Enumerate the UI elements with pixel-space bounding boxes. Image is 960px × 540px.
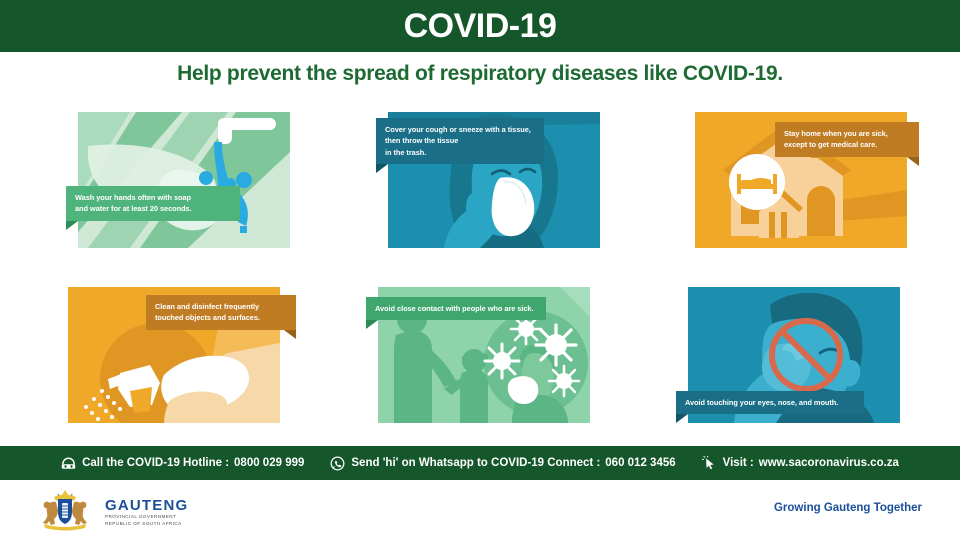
caption-line: Stay home when you are sick,: [784, 128, 910, 139]
header-bar: COVID-19: [0, 0, 960, 52]
panel-caption-avoid-contact: Avoid close contact with people who are …: [366, 297, 546, 320]
panel-avoid-contact: Avoid close contact with people who are …: [378, 287, 590, 423]
contact-website-label: Visit :: [723, 457, 754, 469]
panel-caption-avoid-touching-face: Avoid touching your eyes, nose, and mout…: [676, 391, 864, 414]
caption-line: touched objects and surfaces.: [155, 312, 287, 323]
panel-caption-wash-hands: Wash your hands often with soap and wate…: [66, 186, 240, 221]
contact-hotline-label: Call the COVID-19 Hotline :: [82, 457, 229, 469]
panel-wash-hands: Wash your hands often with soap and wate…: [78, 112, 290, 248]
page-title: COVID-19: [404, 9, 557, 43]
panel-caption-cover-cough: Cover your cough or sneeze with a tissue…: [376, 118, 544, 164]
caption-line: Wash your hands often with soap: [75, 192, 231, 203]
panel-clean-disinfect: Clean and disinfect frequently touched o…: [68, 287, 280, 423]
whatsapp-icon: [330, 456, 345, 471]
caption-line: Avoid touching your eyes, nose, and mout…: [685, 397, 855, 408]
panel-avoid-touching-face: Avoid touching your eyes, nose, and mout…: [688, 287, 900, 423]
caption-line: in the trash.: [385, 147, 535, 158]
telephone-icon: [61, 457, 76, 470]
contact-website[interactable]: Visit : www.sacoronavirus.co.za: [702, 456, 899, 471]
contact-whatsapp[interactable]: Send 'hi' on Whatsapp to COVID-19 Connec…: [330, 456, 675, 471]
contact-whatsapp-value: 060 012 3456: [605, 457, 675, 469]
contact-hotline-value: 0800 029 999: [234, 457, 304, 469]
ribbon-tail: [284, 330, 296, 339]
caption-line: Avoid close contact with people who are …: [375, 303, 537, 314]
contact-hotline[interactable]: Call the COVID-19 Hotline : 0800 029 999: [61, 457, 304, 470]
brand-subtitle-1: PROVINCIAL GOVERNMENT: [105, 515, 188, 520]
subtitle: Help prevent the spread of respiratory d…: [0, 62, 960, 86]
caption-line: except to get medical care.: [784, 139, 910, 150]
ribbon-tail: [366, 320, 378, 329]
cursor-click-icon: [702, 456, 717, 471]
brand-name: GAUTENG: [105, 498, 188, 513]
caption-line: Clean and disinfect frequently: [155, 301, 287, 312]
footer-strip: GAUTENG PROVINCIAL GOVERNMENT REPUBLIC O…: [0, 480, 960, 540]
caption-line: then throw the tissue: [385, 135, 535, 146]
caption-line: and water for at least 20 seconds.: [75, 203, 231, 214]
panel-cover-cough: Cover your cough or sneeze with a tissue…: [388, 112, 600, 248]
caption-line: Cover your cough or sneeze with a tissue…: [385, 124, 535, 135]
coat-of-arms-icon: [34, 488, 96, 537]
panel-caption-stay-home: Stay home when you are sick, except to g…: [775, 122, 919, 157]
tagline: Growing Gauteng Together: [774, 502, 922, 514]
ribbon-tail: [907, 157, 919, 166]
ribbon-tail: [376, 164, 388, 173]
brand-text-block: GAUTENG PROVINCIAL GOVERNMENT REPUBLIC O…: [105, 498, 188, 526]
gauteng-brand: GAUTENG PROVINCIAL GOVERNMENT REPUBLIC O…: [34, 488, 188, 537]
contact-bar: Call the COVID-19 Hotline : 0800 029 999…: [0, 446, 960, 480]
wash-hands-illustration: [78, 112, 290, 248]
panel-stay-home: Stay home when you are sick, except to g…: [695, 112, 907, 248]
ribbon-tail: [66, 221, 78, 230]
ribbon-tail: [676, 414, 688, 423]
prevention-panel-grid: Wash your hands often with soap and wate…: [0, 104, 960, 444]
contact-whatsapp-label: Send 'hi' on Whatsapp to COVID-19 Connec…: [351, 457, 600, 469]
panel-caption-clean-disinfect: Clean and disinfect frequently touched o…: [146, 295, 296, 330]
contact-website-value: www.sacoronavirus.co.za: [759, 457, 899, 469]
brand-subtitle-2: REPUBLIC OF SOUTH AFRICA: [105, 522, 188, 527]
